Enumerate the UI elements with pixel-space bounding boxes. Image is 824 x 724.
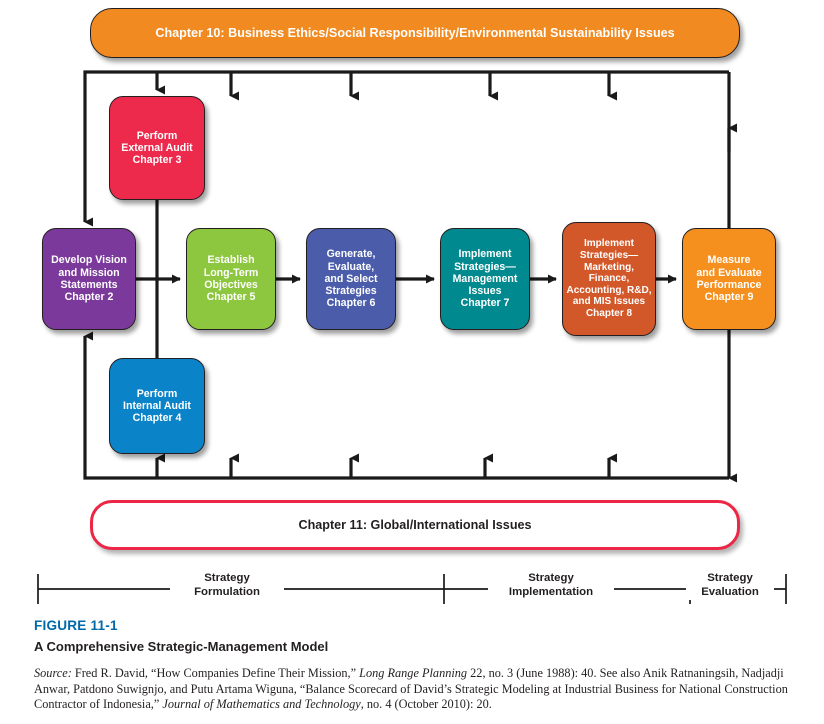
- figure-source-italic1: Long Range Planning: [359, 666, 467, 680]
- node-perform-external-audit[interactable]: Perform External Audit Chapter 3: [109, 96, 205, 200]
- phase-label-strategy-implementation: StrategyImplementation: [488, 572, 614, 600]
- node-implement-strategies-functional[interactable]: Implement Strategies— Marketing, Finance…: [562, 222, 656, 336]
- node-establish-long-term-objectives[interactable]: Establish Long-Term Objectives Chapter 5: [186, 228, 276, 330]
- figure-container: Chapter 10: Business Ethics/Social Respo…: [0, 0, 824, 724]
- banner-chapter-10[interactable]: Chapter 10: Business Ethics/Social Respo…: [90, 8, 740, 58]
- node-measure-and-evaluate-performance-label: Measure and Evaluate Performance Chapter…: [686, 254, 772, 303]
- figure-caption: FIGURE 11-1 A Comprehensive Strategic-Ma…: [34, 618, 804, 713]
- node-measure-and-evaluate-performance[interactable]: Measure and Evaluate Performance Chapter…: [682, 228, 776, 330]
- node-implement-strategies-management-label: Implement Strategies— Management Issues …: [444, 248, 526, 309]
- banner-chapter-11[interactable]: Chapter 11: Global/International Issues: [90, 500, 740, 550]
- figure-source-part1: Fred R. David, “How Companies Define The…: [72, 666, 359, 680]
- figure-title: A Comprehensive Strategic-Management Mod…: [34, 639, 804, 654]
- figure-source-italic2: Journal of Mathematics and Technology: [162, 697, 360, 711]
- node-develop-vision-and-mission[interactable]: Develop Vision and Mission Statements Ch…: [42, 228, 136, 330]
- node-establish-long-term-objectives-label: Establish Long-Term Objectives Chapter 5: [190, 254, 272, 303]
- node-perform-internal-audit[interactable]: Perform Internal Audit Chapter 4: [109, 358, 205, 454]
- figure-number: FIGURE 11-1: [34, 618, 804, 633]
- node-perform-internal-audit-label: Perform Internal Audit Chapter 4: [113, 388, 201, 425]
- node-develop-vision-and-mission-label: Develop Vision and Mission Statements Ch…: [46, 254, 132, 303]
- phase-label-strategy-formulation: StrategyFormulation: [170, 572, 284, 600]
- node-perform-external-audit-label: Perform External Audit Chapter 3: [113, 130, 201, 167]
- banner-chapter-10-label: Chapter 10: Business Ethics/Social Respo…: [155, 26, 674, 40]
- phase-bracket-bar: StrategyFormulation StrategyImplementati…: [0, 558, 824, 612]
- figure-source-part3: , no. 4 (October 2010): 20.: [361, 697, 492, 711]
- node-generate-evaluate-select-strategies[interactable]: Generate, Evaluate, and Select Strategie…: [306, 228, 396, 330]
- node-implement-strategies-management[interactable]: Implement Strategies— Management Issues …: [440, 228, 530, 330]
- figure-source: Source: Fred R. David, “How Companies De…: [34, 666, 804, 713]
- node-implement-strategies-functional-label: Implement Strategies— Marketing, Finance…: [566, 238, 652, 319]
- banner-chapter-11-label: Chapter 11: Global/International Issues: [298, 518, 531, 532]
- phase-label-strategy-evaluation: StrategyEvaluation: [686, 572, 774, 600]
- node-generate-evaluate-select-strategies-label: Generate, Evaluate, and Select Strategie…: [310, 248, 392, 309]
- figure-source-prefix: Source:: [34, 666, 72, 680]
